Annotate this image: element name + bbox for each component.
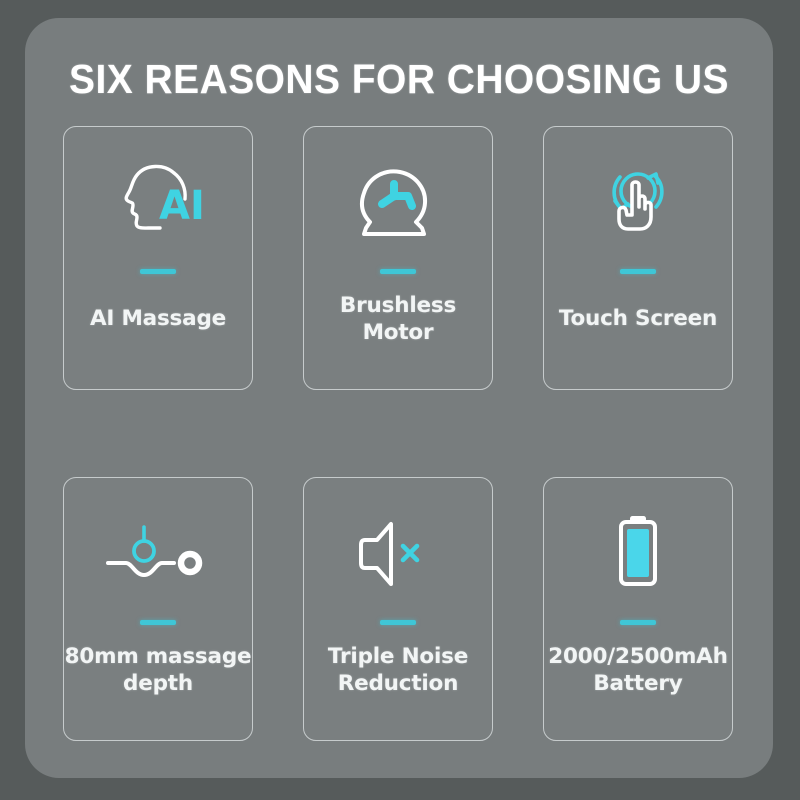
card-divider: [140, 269, 176, 274]
feature-label: 2000/2500mAh Battery: [536, 643, 740, 697]
feature-label-line-1: Brushless: [340, 293, 456, 318]
feature-label: 80mm massage depth: [56, 643, 260, 697]
card-divider: [380, 269, 416, 274]
card-divider: [140, 620, 176, 625]
ai-head-icon: AI: [64, 155, 252, 251]
page-title: SIX REASONS FOR CHOOSING US: [44, 56, 755, 103]
feature-label-line-2: depth: [123, 671, 193, 696]
card-divider: [620, 269, 656, 274]
battery-icon: [544, 506, 732, 602]
brushless-motor-icon: [304, 155, 492, 251]
feature-label-line-2: Motor: [363, 320, 434, 345]
feature-label-line-2: Battery: [593, 671, 682, 696]
massage-depth-icon: [64, 506, 252, 602]
feature-label: Triple Noise Reduction: [296, 643, 500, 697]
feature-card-touch-screen[interactable]: Touch Screen: [543, 126, 733, 390]
feature-card-battery[interactable]: 2000/2500mAh Battery: [543, 477, 733, 741]
feature-label-line-1: 80mm massage: [65, 644, 252, 669]
feature-card-massage-depth[interactable]: 80mm massage depth: [63, 477, 253, 741]
feature-label-line-1: 2000/2500mAh: [548, 644, 727, 669]
feature-card-ai-massage[interactable]: AI AI Massage: [63, 126, 253, 390]
feature-label-line-1: Triple Noise: [328, 644, 468, 669]
feature-label: Touch Screen: [536, 305, 740, 332]
card-divider: [620, 620, 656, 625]
touch-gesture-icon: [544, 155, 732, 251]
feature-card-noise-reduction[interactable]: Triple Noise Reduction: [303, 477, 493, 741]
feature-card-brushless-motor[interactable]: Brushless Motor: [303, 126, 493, 390]
feature-grid: AI AI Massage Brushless Motor: [63, 126, 733, 741]
svg-text:AI: AI: [159, 183, 205, 229]
feature-label: AI Massage: [56, 305, 260, 332]
card-divider: [380, 620, 416, 625]
speaker-mute-icon: [304, 506, 492, 602]
infographic-panel: SIX REASONS FOR CHOOSING US AI AI Massag…: [25, 18, 773, 778]
feature-label-line-2: Reduction: [338, 671, 459, 696]
feature-label: Brushless Motor: [296, 292, 500, 346]
